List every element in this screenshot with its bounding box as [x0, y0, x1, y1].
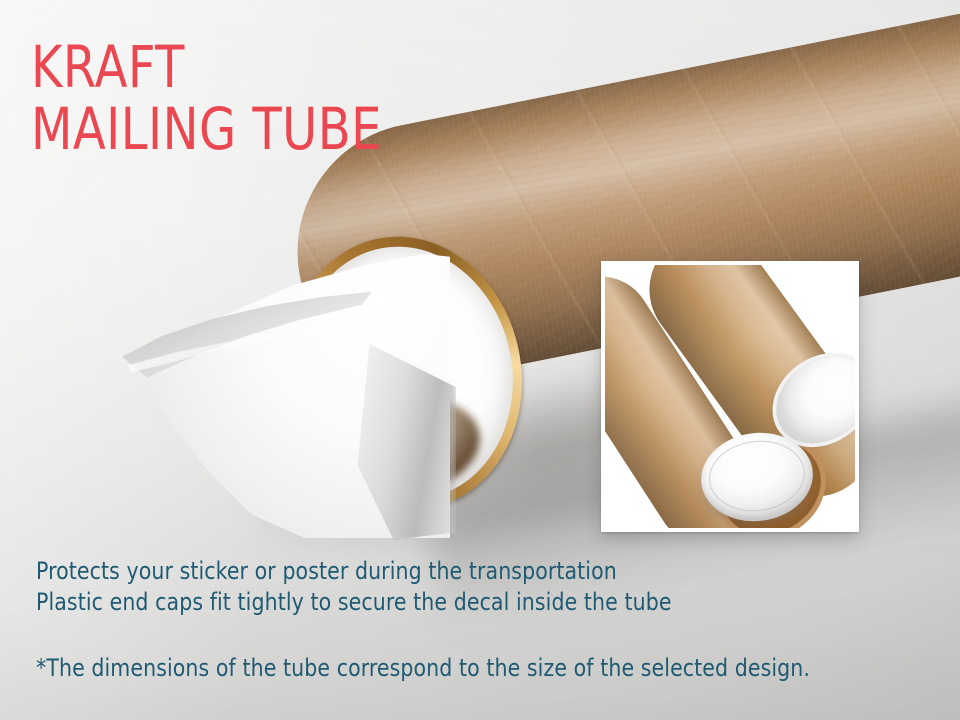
rolled-poster-sheet: [120, 248, 450, 538]
body-copy-line-1: Protects your sticker or poster during t…: [36, 556, 672, 587]
body-copy: Protects your sticker or poster during t…: [36, 556, 705, 618]
headline: KRAFT MAILING TUBE: [31, 36, 412, 160]
headline-line-2: MAILING TUBE: [31, 98, 382, 160]
footnote: *The dimensions of the tube correspond t…: [36, 653, 851, 683]
inset-photo-stage: [605, 265, 855, 528]
body-copy-line-2: Plastic end caps fit tightly to secure t…: [36, 587, 672, 618]
footnote-line-1: *The dimensions of the tube correspond t…: [36, 653, 810, 683]
inset-product-photo: [601, 261, 859, 532]
headline-line-1: KRAFT: [31, 36, 382, 98]
product-poster: KRAFT MAILING TUBE Protects your sticker…: [0, 0, 960, 720]
